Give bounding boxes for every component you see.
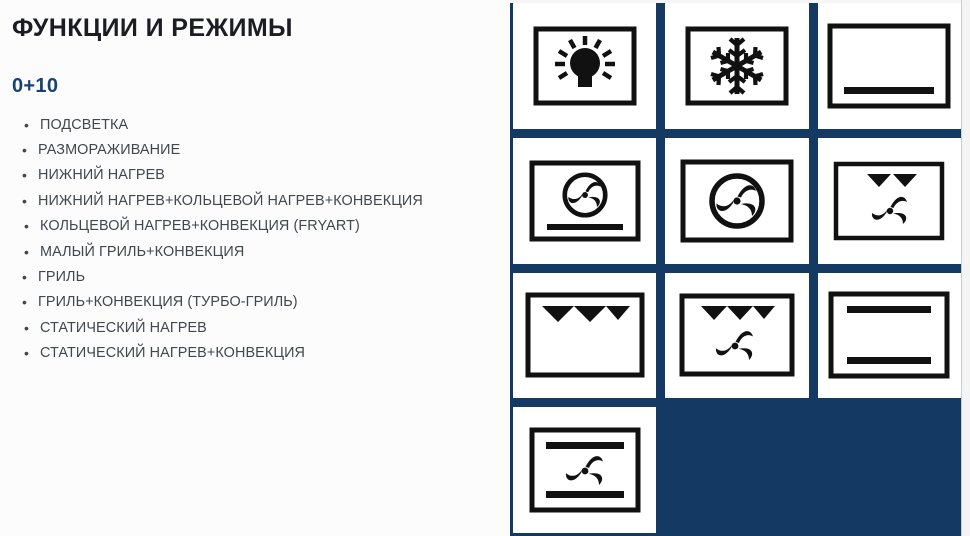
list-item-label: ГРИЛЬ [38,270,85,284]
list-item-label: РАЗМОРАЖИВАНИЕ [38,143,180,157]
list-item-label: НИЖНИЙ НАГРЕВ+КОЛЬЦЕВОЙ НАГРЕВ+КОНВЕКЦИЯ [38,194,423,208]
bullet-icon: • [8,118,40,132]
panel-right-edge [961,0,970,536]
icon-tile-small-grill-fan[interactable] [818,138,961,264]
bullet-icon: • [8,194,38,208]
list-item: • ГРИЛЬ+КОНВЕКЦИЯ (ТУРБО-ГРИЛЬ) [8,295,510,309]
model-code-label: 0+10 [12,75,510,98]
icon-tile-empty [665,407,808,533]
static-heat-fan-icon [529,427,641,513]
page-title: ФУНКЦИИ И РЕЖИМЫ [12,15,510,43]
bullet-icon: • [8,143,38,157]
list-item: • НИЖНИЙ НАГРЕВ [8,168,510,182]
list-item-label: НИЖНИЙ НАГРЕВ [38,168,165,182]
icon-tile-ring-heat-fan[interactable] [665,138,808,264]
full-grill-icon [525,292,645,378]
list-item: • СТАТИЧЕСКИЙ НАГРЕВ [8,321,510,335]
bullet-icon: • [8,245,40,259]
list-item-label: ПОДСВЕТКА [40,118,128,132]
bottom-heat-icon [827,23,951,109]
ring-heat-fan-icon [680,159,794,243]
grill-fan-turbo-icon [679,293,795,377]
list-item: • РАЗМОРАЖИВАНИЕ [8,143,510,157]
icon-tile-turbo-grill[interactable] [665,273,808,399]
icon-tile-empty [818,407,961,533]
list-item-label: СТАТИЧЕСКИЙ НАГРЕВ+КОНВЕКЦИЯ [40,346,305,360]
icon-tile-defrost[interactable] [665,3,808,129]
icon-tile-static-heat-fan[interactable] [513,407,656,533]
oven-lamp-icon [533,26,637,106]
bullet-icon: • [8,295,38,309]
bottom-heat-ring-heat-fan-icon [529,160,641,242]
icon-tile-oven-lamp[interactable] [513,3,656,129]
snowflake-defrost-icon [685,26,789,106]
list-item: • МАЛЫЙ ГРИЛЬ+КОНВЕКЦИЯ [8,245,510,259]
functions-text-panel: ФУНКЦИИ И РЕЖИМЫ 0+10 • ПОДСВЕТКА • РАЗМ… [0,0,510,536]
bullet-icon: • [8,168,38,182]
list-item-label: КОЛЬЦЕВОЙ НАГРЕВ+КОНВЕКЦИЯ (FRYART) [40,219,360,233]
list-item: • КОЛЬЦЕВОЙ НАГРЕВ+КОНВЕКЦИЯ (FRYART) [8,219,510,233]
list-item-label: СТАТИЧЕСКИЙ НАГРЕВ [40,321,207,335]
bullet-icon: • [8,346,40,360]
bullet-icon: • [8,321,40,335]
list-item: • НИЖНИЙ НАГРЕВ+КОЛЬЦЕВОЙ НАГРЕВ+КОНВЕКЦ… [8,194,510,208]
icon-tile-bottom-heat[interactable] [818,3,961,129]
list-item-label: ГРИЛЬ+КОНВЕКЦИЯ (ТУРБО-ГРИЛЬ) [38,295,298,309]
icon-grid [513,3,961,533]
oven-symbol-grid-panel [510,0,970,536]
static-heat-icon [828,291,950,379]
icon-tile-full-grill[interactable] [513,273,656,399]
bullet-icon: • [8,219,40,233]
icon-tile-static-heat[interactable] [818,273,961,399]
mode-list: • ПОДСВЕТКА • РАЗМОРАЖИВАНИЕ • НИЖНИЙ НА… [8,118,510,361]
icon-tile-bottom-ring-fan[interactable] [513,138,656,264]
small-grill-fan-icon [833,161,945,241]
list-item: • ГРИЛЬ [8,270,510,284]
slide-root: ФУНКЦИИ И РЕЖИМЫ 0+10 • ПОДСВЕТКА • РАЗМ… [0,0,970,536]
list-item-label: МАЛЫЙ ГРИЛЬ+КОНВЕКЦИЯ [40,245,244,259]
bullet-icon: • [8,270,38,284]
list-item: • СТАТИЧЕСКИЙ НАГРЕВ+КОНВЕКЦИЯ [8,346,510,360]
list-item: • ПОДСВЕТКА [8,118,510,132]
